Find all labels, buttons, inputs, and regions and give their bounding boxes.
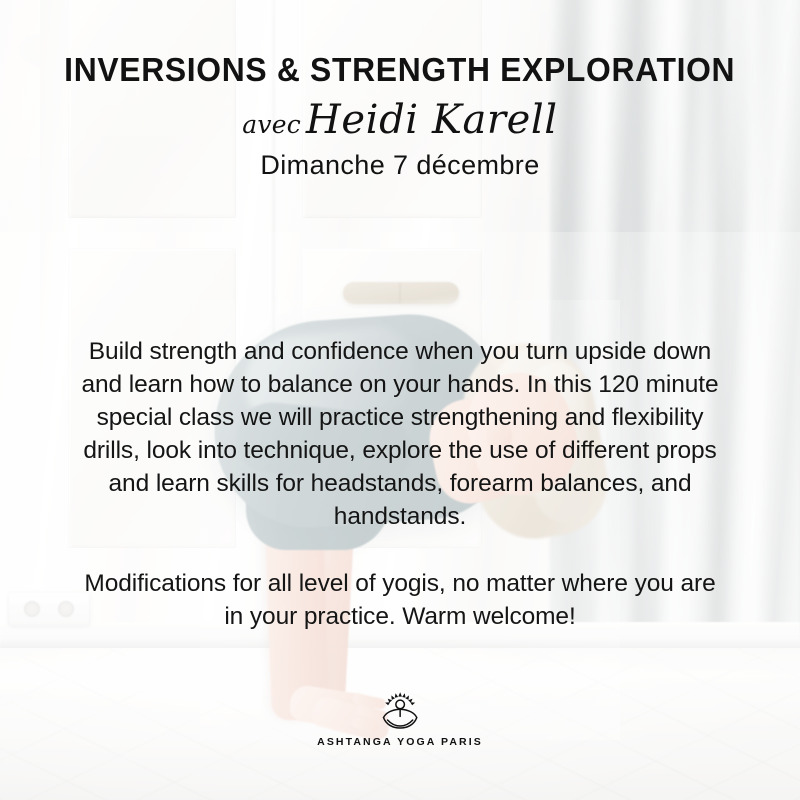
studio-logo: ASHTANGA YOGA PARIS xyxy=(317,689,483,748)
body-copy: Build strength and confidence when you t… xyxy=(80,336,720,634)
poster-content: INVERSIONS & STRENGTH EXPLORATION avecHe… xyxy=(0,0,800,800)
event-date: Dimanche 7 décembre xyxy=(260,152,539,179)
logo-wordmark: ASHTANGA YOGA PARIS xyxy=(317,736,483,748)
body-paragraph-1: Build strength and confidence when you t… xyxy=(80,336,720,534)
poster-title: INVERSIONS & STRENGTH EXPLORATION xyxy=(47,53,753,88)
body-paragraph-2: Modifications for all level of yogis, no… xyxy=(80,568,720,634)
presenter-name: Heidi Karell xyxy=(301,97,558,143)
poster: INVERSIONS & STRENGTH EXPLORATION avecHe… xyxy=(0,0,800,800)
presenter-prefix: avec xyxy=(242,110,301,139)
presenter-line: avecHeidi Karell xyxy=(242,100,557,140)
lotus-seated-figure-icon xyxy=(377,689,423,731)
